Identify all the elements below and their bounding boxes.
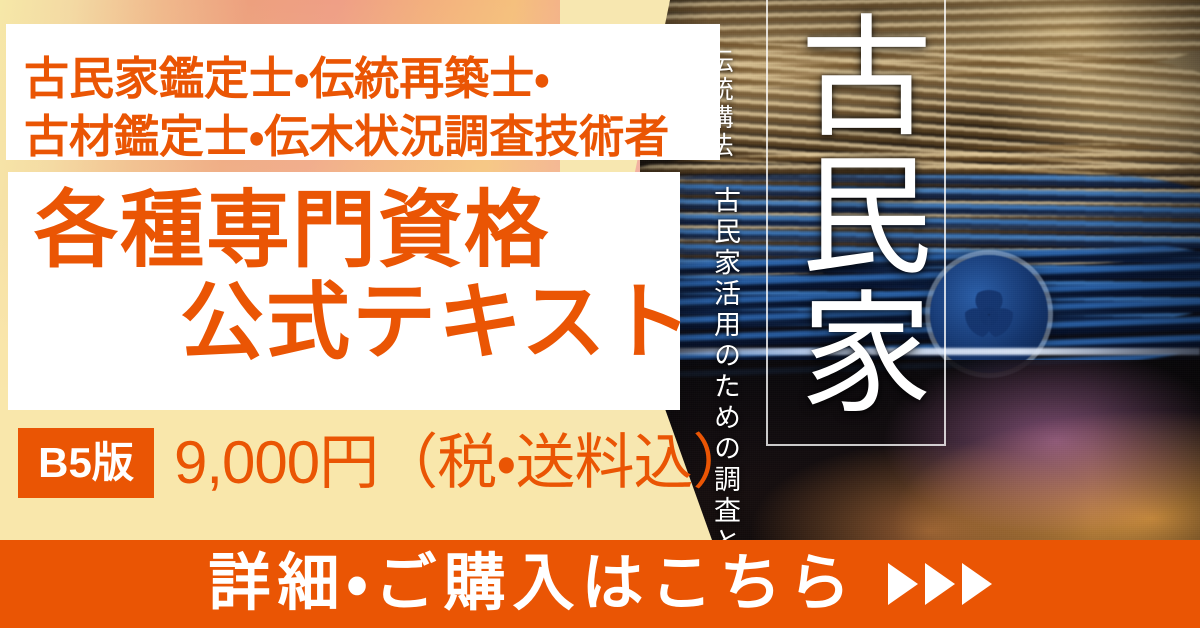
main-title-line-2: 公式テキスト (180, 280, 693, 364)
triangle-right-icon (925, 563, 955, 605)
cta-label: 詳細・ご購入はこちら (208, 553, 857, 615)
triangle-right-icon (962, 563, 992, 605)
qualifications-text: 古民家鑑定士・伝統再築士・ 古材鑑定士・伝木状況調査技術者 (24, 50, 669, 165)
main-title-line-1: 各種専門資格 (34, 188, 550, 272)
qualifications-card: 古民家鑑定士・伝統再築士・ 古材鑑定士・伝木状況調査技術者 (6, 24, 720, 160)
qualifications-line-1: 古民家鑑定士・伝統再築士・ (24, 50, 669, 108)
promo-banner: 伝統構法 古民家活用のための調査と再生の 古民家 古民家鑑定士・伝統再築士・ 古… (0, 0, 1200, 628)
cta-arrow-group (888, 563, 992, 605)
price-text: 9,000円（税・送料込） (174, 430, 752, 496)
cover-title: 古民家 (784, 8, 924, 422)
format-badge-label: B5版 (38, 442, 134, 484)
main-title-card: 各種専門資格 公式テキスト (8, 172, 680, 410)
qualifications-line-2: 古材鑑定士・伝木状況調査技術者 (24, 108, 669, 166)
triangle-right-icon (888, 563, 918, 605)
cta-button[interactable]: 詳細・ご購入はこちら (0, 540, 1200, 628)
format-badge: B5版 (18, 428, 154, 498)
